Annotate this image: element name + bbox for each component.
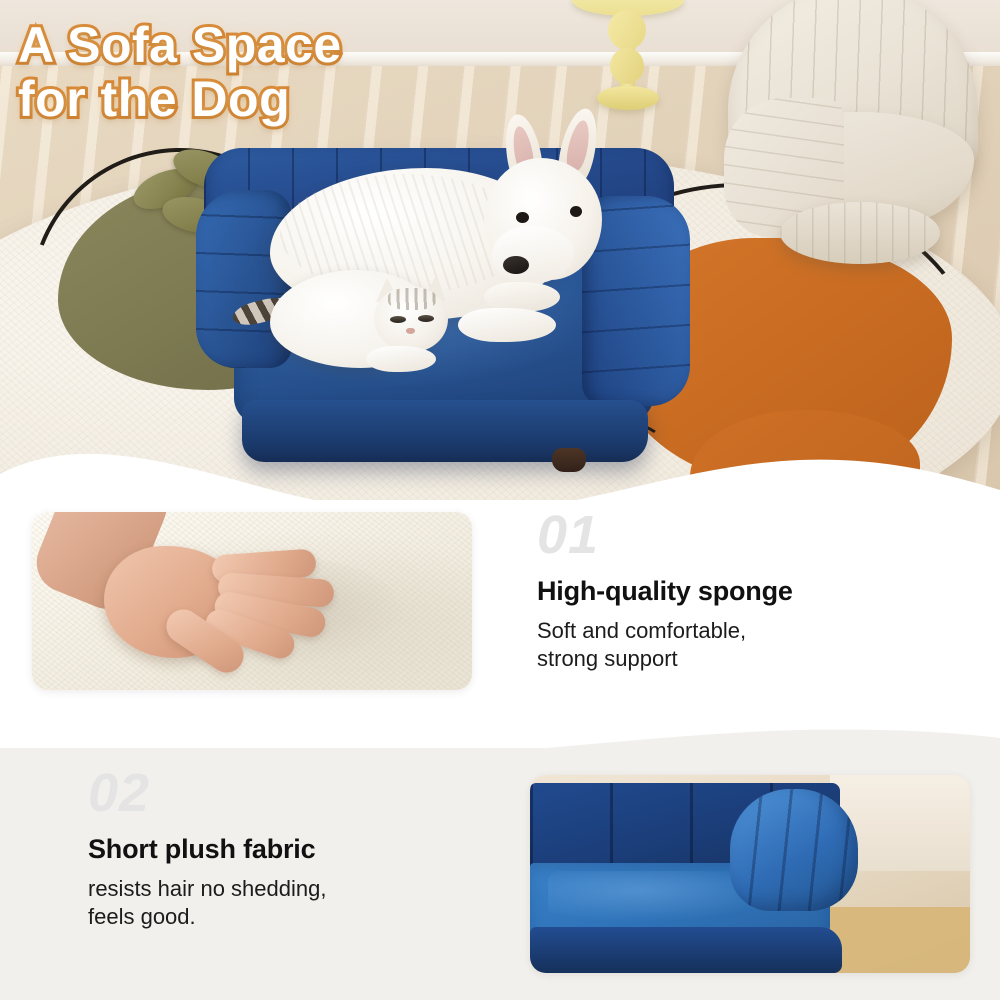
dog-paw-front [458, 308, 556, 342]
feature-section-02: 02 Short plush fabric resists hair no sh… [0, 748, 1000, 1000]
cat-nose [406, 328, 415, 334]
closeup-sofa-base [530, 927, 842, 973]
table-stem-upper [608, 10, 646, 50]
feature-01-text-block: 01 High-quality sponge Soft and comforta… [537, 508, 967, 673]
feature-01-title: High-quality sponge [537, 576, 967, 607]
hero-headline: A Sofa Space for the Dog [18, 18, 538, 126]
closeup-woven-rug [830, 907, 970, 973]
product-infographic-page: A Sofa Space for the Dog 01 High-quality… [0, 0, 1000, 1000]
feature-section-01: 01 High-quality sponge Soft and comforta… [0, 500, 1000, 748]
chair-base [780, 202, 940, 264]
table-foot [597, 86, 659, 110]
feature-02-title: Short plush fabric [88, 834, 518, 865]
cat-head-stripes [388, 288, 436, 310]
cat-eye-left [390, 316, 406, 323]
feature-01-description: Soft and comfortable, strong support [537, 617, 967, 673]
feature-01-number: 01 [537, 508, 967, 562]
feature-02-number: 02 [88, 766, 518, 820]
white-cat [270, 252, 470, 382]
sofa-base-skirt [242, 400, 648, 462]
hero-banner: A Sofa Space for the Dog [0, 0, 1000, 500]
feature-02-text-block: 02 Short plush fabric resists hair no sh… [88, 766, 518, 931]
table-stem-lower [610, 48, 644, 84]
dog-eye-right [570, 206, 582, 217]
sofa-leg [552, 448, 586, 472]
feature-02-image [530, 775, 970, 973]
cat-paw [366, 346, 436, 372]
cat-eye-right [418, 315, 434, 322]
feature-02-description: resists hair no shedding, feels good. [88, 875, 518, 931]
dog-eye-left [516, 212, 529, 223]
cream-accent-chair [718, 0, 988, 276]
feature-01-image [32, 512, 472, 690]
closeup-sofa-arm [730, 789, 858, 911]
dog-nose [503, 256, 529, 274]
